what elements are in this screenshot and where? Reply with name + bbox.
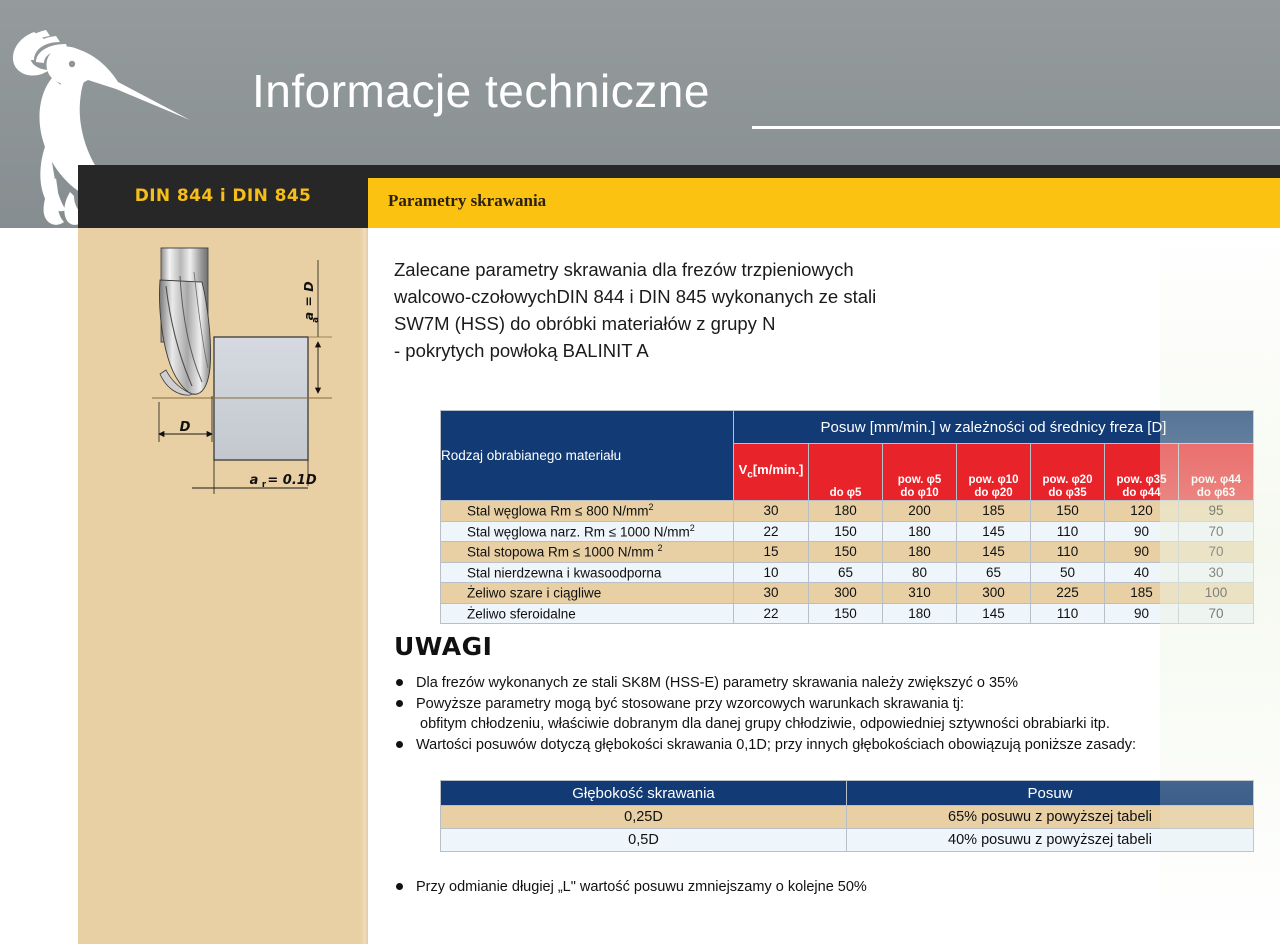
svg-text:= 0.1D: = 0.1D xyxy=(267,473,316,488)
cell-material: Stal węglowa narz. Rm ≤ 1000 N/mm2 xyxy=(441,521,734,542)
cell-d44-63: 30 xyxy=(1179,562,1254,583)
cell-material: Stal nierdzewna i kwasoodporna xyxy=(441,562,734,583)
cell-depth: 0,5D xyxy=(441,829,847,852)
cell-d5-10: 80 xyxy=(883,562,957,583)
cell-d10-20: 185 xyxy=(957,501,1031,522)
cell-d35-44: 90 xyxy=(1105,521,1179,542)
cell-d5-10: 200 xyxy=(883,501,957,522)
cell-material-sup: 2 xyxy=(690,523,695,533)
cell-depth: 0,25D xyxy=(441,806,847,829)
note-item-final: Przy odmianie długiej „L" wartość posuwu… xyxy=(390,878,1116,897)
table-row: Żeliwo sferoidalne 22 150 180 145 110 90… xyxy=(441,603,1254,624)
cell-d5-10: 310 xyxy=(883,583,957,604)
table-header-row-group: Rodzaj obrabianego materiału Posuw [mm/m… xyxy=(441,411,1254,444)
note-item-text: Dla frezów wykonanych ze stali SK8M (HSS… xyxy=(416,675,1018,691)
note-item: Powyższe parametry mogą być stosowane pr… xyxy=(390,695,1270,734)
cell-d20-35: 110 xyxy=(1031,521,1105,542)
cell-feed: 40% posuwu z powyższej tabeli xyxy=(847,829,1254,852)
header-col-d10-20-line2: do φ20 xyxy=(957,487,1030,500)
bullet-icon xyxy=(396,679,403,686)
tab-section-label: Parametry skrawania xyxy=(388,191,546,211)
tab-section[interactable]: Parametry skrawania xyxy=(368,165,1280,228)
cell-material: Stal węglowa Rm ≤ 800 N/mm2 xyxy=(441,501,734,522)
cell-material-text: Żeliwo szare i ciągliwe xyxy=(467,586,601,601)
bullet-icon xyxy=(396,883,403,890)
cell-material: Żeliwo sferoidalne xyxy=(441,603,734,624)
section-tab-row: DIN 844 i DIN 845 Parametry skrawania xyxy=(0,165,1280,228)
cell-material-text: Żeliwo sferoidalne xyxy=(467,606,576,621)
table-row: 0,5D 40% posuwu z powyższej tabeli xyxy=(441,829,1254,852)
note-item-text: Powyższe parametry mogą być stosowane pr… xyxy=(416,696,964,712)
cell-d10-20: 145 xyxy=(957,521,1031,542)
note-item-text: Wartości posuwów dotyczą głębokości skra… xyxy=(416,737,1136,753)
svg-text:r: r xyxy=(262,480,267,490)
header-col-d44-63-line2: do φ63 xyxy=(1179,487,1253,500)
note-item: Dla frezów wykonanych ze stali SK8M (HSS… xyxy=(390,674,1270,693)
svg-text:a: a xyxy=(311,317,321,323)
header-col-d5: do φ5 xyxy=(809,444,883,501)
intro-paragraph: Zalecane parametry skrawania dla frezów … xyxy=(394,256,994,364)
header-col-d10-20-line1: pow. φ10 xyxy=(957,474,1030,487)
cell-d5: 180 xyxy=(809,501,883,522)
cell-d20-35: 50 xyxy=(1031,562,1105,583)
header-col-d35-44-line1: pow. φ35 xyxy=(1105,474,1178,487)
table-row: Żeliwo szare i ciągliwe 30 300 310 300 2… xyxy=(441,583,1254,604)
table-row: Stal stopowa Rm ≤ 1000 N/mm 2 15 150 180… xyxy=(441,542,1254,563)
header-col-d35-44: pow. φ35 do φ44 xyxy=(1105,444,1179,501)
cell-vc: 30 xyxy=(734,501,809,522)
cell-d44-63: 70 xyxy=(1179,521,1254,542)
header-feed: Posuw xyxy=(847,781,1254,806)
cell-d10-20: 145 xyxy=(957,603,1031,624)
cell-d44-63: 95 xyxy=(1179,501,1254,522)
header-col-d20-35: pow. φ20 do φ35 xyxy=(1031,444,1105,501)
cell-d35-44: 40 xyxy=(1105,562,1179,583)
cell-d10-20: 300 xyxy=(957,583,1031,604)
cell-vc: 15 xyxy=(734,542,809,563)
cell-d20-35: 225 xyxy=(1031,583,1105,604)
header-depth: Głębokość skrawania xyxy=(441,781,847,806)
title-rule xyxy=(752,126,1280,129)
cell-d35-44: 90 xyxy=(1105,542,1179,563)
cell-d35-44: 120 xyxy=(1105,501,1179,522)
cell-d5: 300 xyxy=(809,583,883,604)
header-material: Rodzaj obrabianego materiału xyxy=(441,411,734,501)
notes-title: UWAGI xyxy=(394,632,492,661)
cell-material-text: Stal nierdzewna i kwasoodporna xyxy=(467,565,661,580)
cell-d5-10: 180 xyxy=(883,542,957,563)
cell-d44-63: 70 xyxy=(1179,603,1254,624)
header-col-d5-line2: do φ5 xyxy=(809,487,882,500)
cell-material-text: Stal stopowa Rm ≤ 1000 N/mm xyxy=(467,545,657,560)
header-col-d20-35-line1: pow. φ20 xyxy=(1031,474,1104,487)
note-item-continuation: obfitym chłodzeniu, właściwie dobranym d… xyxy=(416,715,1270,734)
cell-vc: 22 xyxy=(734,603,809,624)
table-row: Stal nierdzewna i kwasoodporna 10 65 80 … xyxy=(441,562,1254,583)
intro-line-3: SW7M (HSS) do obróbki materiałów z grupy… xyxy=(394,310,994,337)
cell-d5: 65 xyxy=(809,562,883,583)
cutting-parameters-table: Rodzaj obrabianego materiału Posuw [mm/m… xyxy=(440,410,1254,624)
cell-vc: 10 xyxy=(734,562,809,583)
tab-standard-label: DIN 844 i DIN 845 xyxy=(78,186,368,206)
cell-d10-20: 145 xyxy=(957,542,1031,563)
cell-d35-44: 90 xyxy=(1105,603,1179,624)
cell-d20-35: 110 xyxy=(1031,603,1105,624)
intro-line-1: Zalecane parametry skrawania dla frezów … xyxy=(394,256,994,283)
cell-material: Żeliwo szare i ciągliwe xyxy=(441,583,734,604)
cell-d5-10: 180 xyxy=(883,603,957,624)
page-title: Informacje techniczne xyxy=(252,68,710,114)
cell-d35-44: 185 xyxy=(1105,583,1179,604)
depth-feed-body: 0,25D 65% posuwu z powyższej tabeli 0,5D… xyxy=(441,806,1254,852)
cell-d5: 150 xyxy=(809,521,883,542)
table-row: Stal węglowa narz. Rm ≤ 1000 N/mm2 22 15… xyxy=(441,521,1254,542)
tab-standard[interactable]: DIN 844 i DIN 845 xyxy=(78,165,368,228)
svg-text:= D: = D xyxy=(301,281,316,306)
depth-feed-table: Głębokość skrawania Posuw 0,25D 65% posu… xyxy=(440,780,1254,852)
table-row: Stal węglowa Rm ≤ 800 N/mm2 30 180 200 1… xyxy=(441,501,1254,522)
cutting-parameters-body: Stal węglowa Rm ≤ 800 N/mm2 30 180 200 1… xyxy=(441,501,1254,624)
header-feed-group: Posuw [mm/min.] w zależności od średnicy… xyxy=(734,411,1254,444)
bullet-icon xyxy=(396,741,403,748)
cell-d44-63: 100 xyxy=(1179,583,1254,604)
cell-d20-35: 150 xyxy=(1031,501,1105,522)
header-col-d5-10: pow. φ5 do φ10 xyxy=(883,444,957,501)
notes-list: Dla frezów wykonanych ze stali SK8M (HSS… xyxy=(390,674,1270,757)
bullet-icon xyxy=(396,700,403,707)
vc-unit: [m/min.] xyxy=(753,462,804,477)
cell-d5: 150 xyxy=(809,542,883,563)
header-col-d44-63: pow. φ44 do φ63 xyxy=(1179,444,1254,501)
cell-material-text: Stal węglowa Rm ≤ 800 N/mm xyxy=(467,504,648,519)
cell-material: Stal stopowa Rm ≤ 1000 N/mm 2 xyxy=(441,542,734,563)
header-col-d10-20: pow. φ10 do φ20 xyxy=(957,444,1031,501)
cell-vc: 30 xyxy=(734,583,809,604)
cell-d44-63: 70 xyxy=(1179,542,1254,563)
svg-text:D: D xyxy=(180,420,191,435)
depth-table-header-row: Głębokość skrawania Posuw xyxy=(441,781,1254,806)
header-col-d44-63-line1: pow. φ44 xyxy=(1179,474,1253,487)
cell-d10-20: 65 xyxy=(957,562,1031,583)
main-content: Zalecane parametry skrawania dla frezów … xyxy=(368,228,1280,944)
cell-vc: 22 xyxy=(734,521,809,542)
header-col-d20-35-line2: do φ35 xyxy=(1031,487,1104,500)
endmill-technical-drawing: a a = D D a r = 0.1D xyxy=(132,246,362,502)
cell-d5-10: 180 xyxy=(883,521,957,542)
cell-d20-35: 110 xyxy=(1031,542,1105,563)
vc-symbol: V xyxy=(739,462,748,477)
header-col-d5-10-line1: pow. φ5 xyxy=(883,474,956,487)
note-item: Wartości posuwów dotyczą głębokości skra… xyxy=(390,736,1270,755)
cell-material-sup: 2 xyxy=(657,543,662,553)
header-col-d35-44-line2: do φ44 xyxy=(1105,487,1178,500)
intro-line-4: - pokrytych powłoką BALINIT A xyxy=(394,337,994,364)
cell-feed: 65% posuwu z powyższej tabeli xyxy=(847,806,1254,829)
header-col-d5-10-line2: do φ10 xyxy=(883,487,956,500)
note-item-final-text: Przy odmianie długiej „L" wartość posuwu… xyxy=(416,879,867,895)
cell-material-sup: 2 xyxy=(648,502,653,512)
header-col-vc: Vc[m/min.] xyxy=(734,444,809,501)
svg-text:a: a xyxy=(250,473,259,488)
cell-material-text: Stal węglowa narz. Rm ≤ 1000 N/mm xyxy=(467,524,690,539)
intro-line-2: walcowo-czołowychDIN 844 i DIN 845 wykon… xyxy=(394,283,994,310)
cell-d5: 150 xyxy=(809,603,883,624)
table-row: 0,25D 65% posuwu z powyższej tabeli xyxy=(441,806,1254,829)
